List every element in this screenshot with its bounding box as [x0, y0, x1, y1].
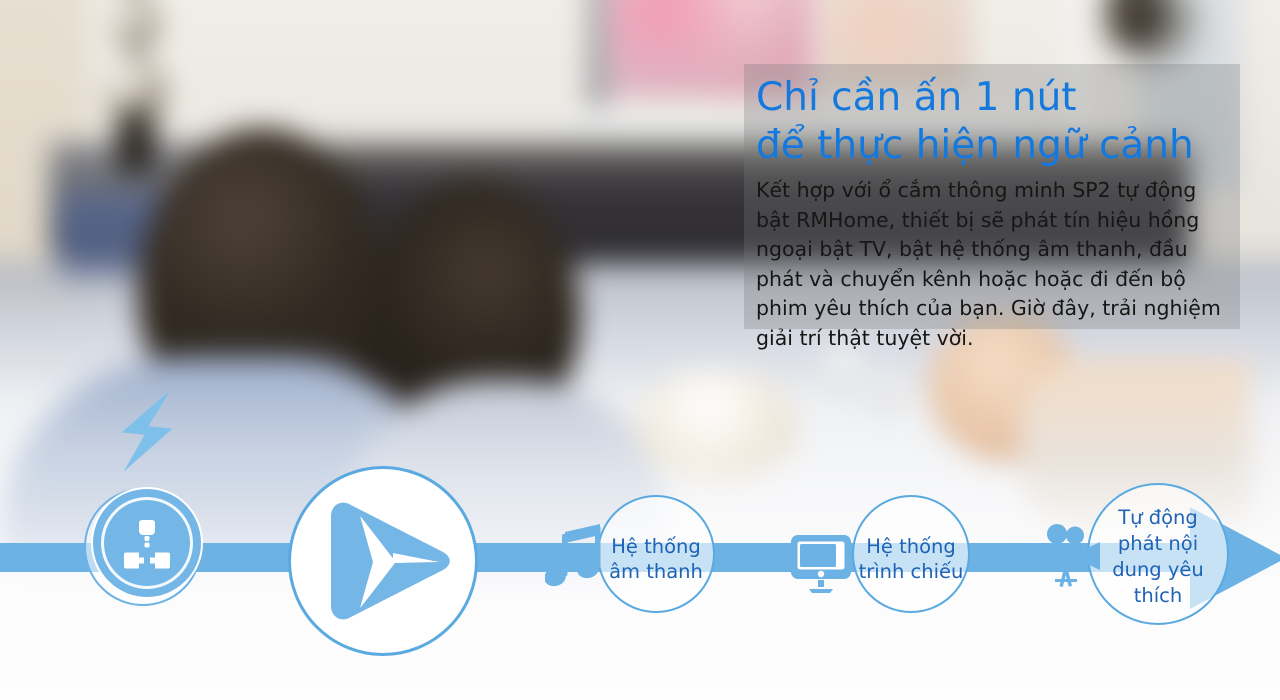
promo-text-panel: Chỉ cần ấn 1 nút để thực hiện ngữ cảnh K…: [744, 64, 1240, 329]
monitor-icon: [790, 534, 852, 594]
power-socket-icon: [118, 514, 176, 572]
promo-body-text: Kết hợp với ổ cắm thông minh SP2 tự động…: [756, 176, 1234, 353]
bg-lamp-sphere-upper: [112, 0, 160, 48]
bg-remote-control-one: [826, 348, 860, 396]
broadlink-rm-logo-icon: [315, 490, 457, 632]
bg-television-frame: [588, 0, 606, 120]
headline-line-2: để thực hiện ngữ cảnh: [756, 122, 1234, 170]
lightning-bolt-icon: [112, 388, 182, 474]
bg-remote-control-two: [868, 376, 904, 410]
timeline-label-audio: Hệ thống âm thanh: [600, 534, 712, 584]
music-note-icon: [545, 522, 607, 590]
bg-lamp-base: [116, 112, 156, 172]
timeline-label-favorites: Tự động phát nội dung yêu thích: [1090, 505, 1226, 609]
headline-line-1: Chỉ cần ấn 1 nút: [756, 74, 1234, 122]
bg-popcorn-bowl: [636, 368, 796, 478]
timeline-label-display: Hệ thống trình chiếu: [855, 534, 967, 584]
banner-stage: Chỉ cần ấn 1 nút để thực hiện ngữ cảnh K…: [0, 0, 1280, 700]
